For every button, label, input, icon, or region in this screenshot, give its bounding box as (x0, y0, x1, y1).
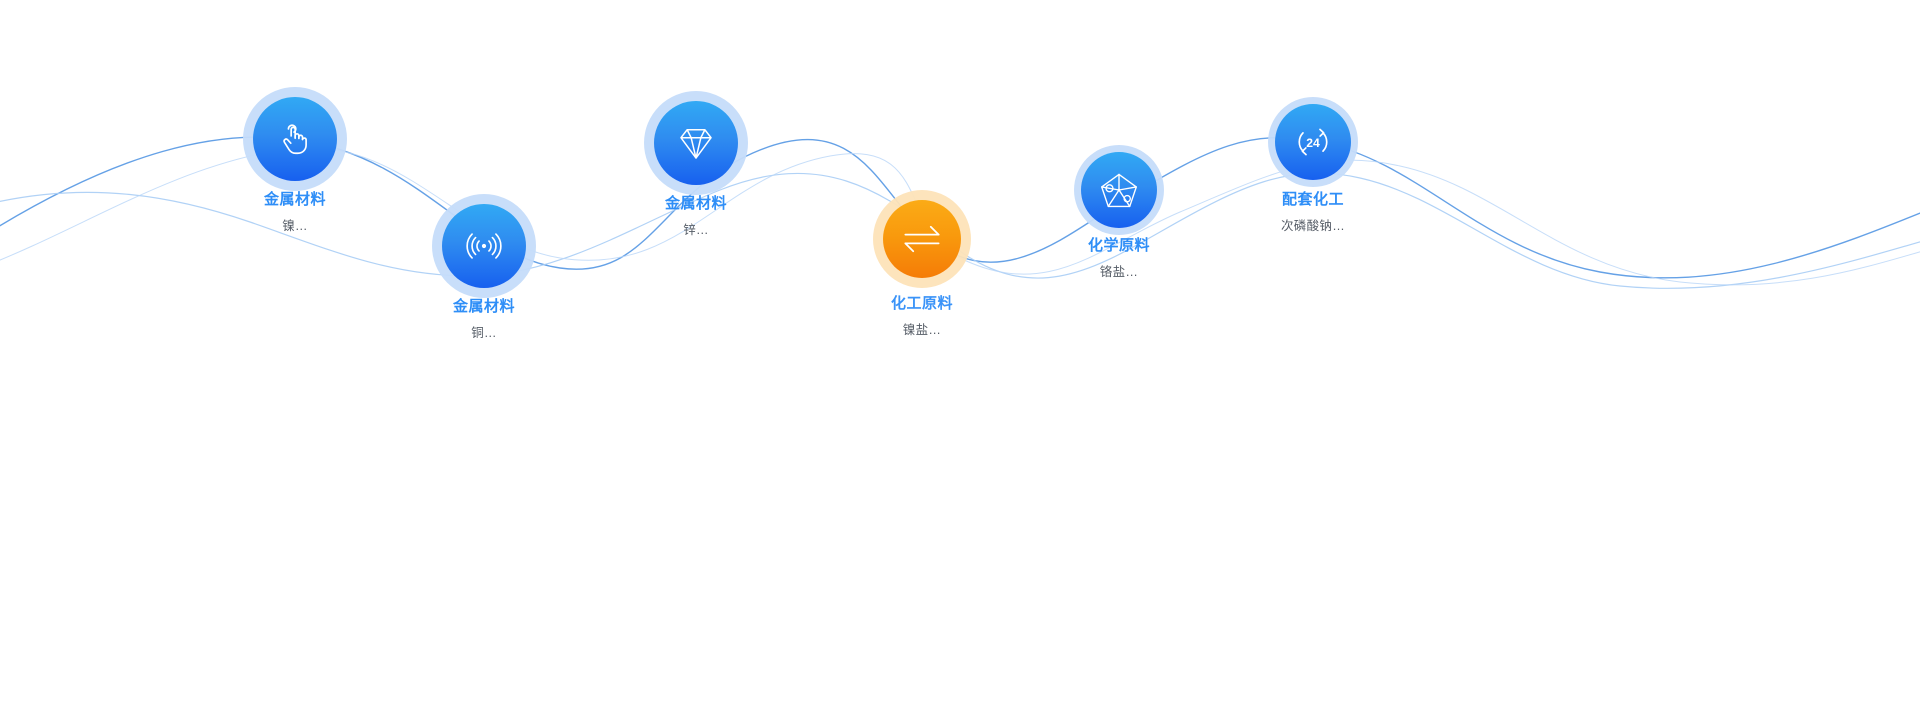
node-title: 配套化工 (1281, 190, 1345, 210)
node-subtitle: 铬盐… (1088, 263, 1150, 281)
node-title: 金属材料 (264, 190, 326, 210)
node-label-group: 化学原料 铬盐… (1088, 236, 1150, 281)
node-circle[interactable] (883, 200, 961, 278)
diamond-icon (673, 122, 719, 164)
node-label-group: 配套化工 次磷酸钠… (1281, 190, 1345, 235)
node-subtitle: 镍盐… (891, 321, 953, 339)
node-subtitle: 镍… (264, 217, 326, 235)
node-circle[interactable] (1081, 152, 1157, 228)
node-title: 化工原料 (891, 294, 953, 314)
node-circle[interactable] (253, 97, 337, 181)
node-label-group: 金属材料 锌… (665, 194, 727, 239)
node-title: 金属材料 (665, 194, 727, 214)
node-subtitle: 锌… (665, 221, 727, 239)
signal-waves-icon (462, 224, 506, 268)
svg-text:24: 24 (1306, 136, 1320, 150)
reversible-arrows-icon (901, 222, 943, 256)
node-circle[interactable]: 24 (1275, 104, 1351, 180)
service-24h-icon: 24 (1293, 122, 1333, 162)
node-label-group: 化工原料 镍盐… (891, 294, 953, 339)
node-layer: 金属材料 镍… (0, 0, 1920, 718)
node-circle[interactable] (654, 101, 738, 185)
supply-chain-diagram: 金属材料 镍… (0, 0, 1920, 718)
node-subtitle: 次磷酸钠… (1281, 217, 1345, 235)
tap-hand-icon (274, 118, 316, 160)
molecule-pentagon-icon (1099, 171, 1139, 209)
node-title: 金属材料 (453, 297, 515, 317)
node-label-group: 金属材料 镍… (264, 190, 326, 235)
node-label-group: 金属材料 铜… (453, 297, 515, 342)
node-title: 化学原料 (1088, 236, 1150, 256)
node-circle[interactable] (442, 204, 526, 288)
node-subtitle: 铜… (453, 324, 515, 342)
